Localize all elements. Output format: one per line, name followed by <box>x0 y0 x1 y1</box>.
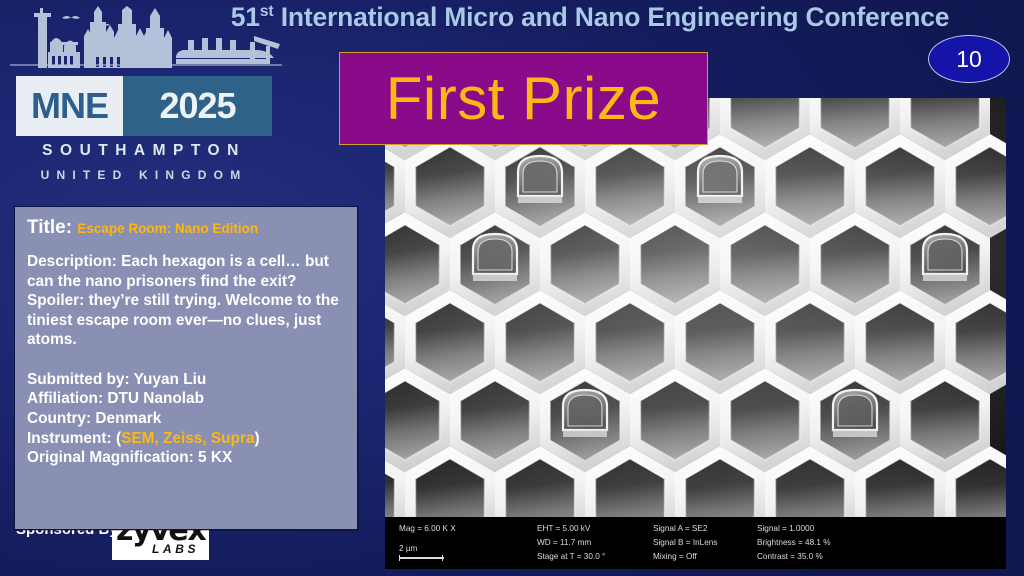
databar-mixing: Mixing = Off <box>653 550 717 564</box>
entry-title-line: Title: Escape Room: Nano Edition <box>27 217 347 239</box>
databar-col-mag: Mag = 6.00 K X 2 µm <box>399 522 456 556</box>
southampton-skyline-icon <box>10 6 282 78</box>
databar-contrast: Contrast = 35.0 % <box>757 550 831 564</box>
entry-title-label: Title: <box>27 217 72 238</box>
entry-magnification-row: Original Magnification: 5 KX <box>27 448 347 468</box>
databar-signal-a: Signal A = SE2 <box>653 522 717 536</box>
entry-magnification-label: Original Magnification: <box>27 449 194 466</box>
mne-logo-year: 2025 <box>159 85 235 127</box>
page-title-rest: International Micro and Nano Engineering… <box>274 2 950 32</box>
databar-wd: WD = 11.7 mm <box>537 536 605 550</box>
logo-city: SOUTHAMPTON <box>16 142 272 160</box>
databar-stage: Stage at T = 30.0 ° <box>537 550 605 564</box>
databar-scalebar-icon <box>399 555 443 561</box>
page-number-badge: 10 <box>928 35 1010 83</box>
entry-affiliation-label: Affiliation: <box>27 390 103 407</box>
entry-country-label: Country: <box>27 410 91 427</box>
page-title: 51st International Micro and Nano Engine… <box>170 2 1010 33</box>
entry-affiliation-value: DTU Nanolab <box>107 390 204 407</box>
entry-submitted-by-value: Yuyan Liu <box>134 371 207 388</box>
sem-databar: Mag = 6.00 K X 2 µm EHT = 5.00 kV WD = 1… <box>385 517 1006 569</box>
databar-mag: Mag = 6.00 K X <box>399 522 456 536</box>
zyvex-logo-subtitle: LABS <box>152 542 199 556</box>
databar-brightness: Brightness = 48.1 % <box>757 536 831 550</box>
entry-magnification-value: 5 KX <box>198 449 232 466</box>
databar-scale: 2 µm <box>399 542 456 556</box>
entry-instrument-paren-close: ) <box>255 430 260 447</box>
conference-logo: MNE 2025 SOUTHAMPTON UNITED KINGDOM <box>4 6 289 196</box>
entry-metadata: Submitted by: Yuyan Liu Affiliation: DTU… <box>27 370 347 468</box>
databar-eht: EHT = 5.00 kV <box>537 522 605 536</box>
entry-title-value: Escape Room: Nano Edition <box>77 221 258 236</box>
prize-banner: First Prize <box>339 52 708 145</box>
databar-signal: Signal = 1.0000 <box>757 522 831 536</box>
mne-logo-right: 2025 <box>123 76 272 136</box>
page-number-label: 10 <box>956 46 982 73</box>
entry-instrument-value: SEM, Zeiss, Supra <box>121 430 254 447</box>
entry-info-panel: Title: Escape Room: Nano Edition Descrip… <box>14 206 358 530</box>
databar-col-detector: Signal = 1.0000 Brightness = 48.1 % Cont… <box>757 522 831 564</box>
slide-root: 51st International Micro and Nano Engine… <box>0 0 1024 576</box>
entry-instrument-row: Instrument: (SEM, Zeiss, Supra) <box>27 429 347 449</box>
databar-signal-b: Signal B = InLens <box>653 536 717 550</box>
sem-honeycomb-image <box>385 98 1006 535</box>
entry-affiliation-row: Affiliation: DTU Nanolab <box>27 389 347 409</box>
entry-submitted-by-row: Submitted by: Yuyan Liu <box>27 370 347 390</box>
entry-submitted-by-label: Submitted by: <box>27 371 130 388</box>
databar-col-beam: EHT = 5.00 kV WD = 11.7 mm Stage at T = … <box>537 522 605 564</box>
mne-logo-left: MNE <box>16 76 123 136</box>
mne-logo-box: MNE 2025 <box>16 76 272 136</box>
entry-country-row: Country: Denmark <box>27 409 347 429</box>
entry-description: Description: Each hexagon is a cell… but… <box>27 252 347 350</box>
entry-country-value: Denmark <box>95 410 161 427</box>
prize-banner-label: First Prize <box>386 69 662 129</box>
logo-country: UNITED KINGDOM <box>16 168 272 182</box>
entry-instrument-label: Instrument: <box>27 430 112 447</box>
mne-logo-text: MNE <box>31 85 108 127</box>
databar-col-signals: Signal A = SE2 Signal B = InLens Mixing … <box>653 522 717 564</box>
sem-micrograph: Mag = 6.00 K X 2 µm EHT = 5.00 kV WD = 1… <box>385 98 1006 569</box>
